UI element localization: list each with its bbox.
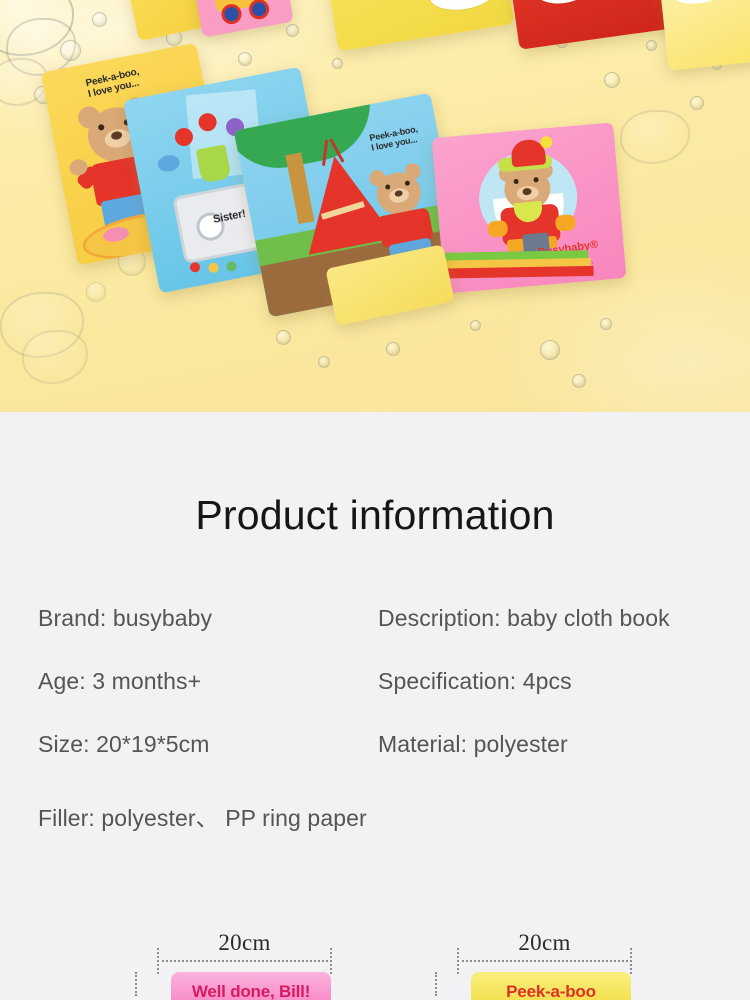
- dimension-tick-left: [157, 948, 159, 974]
- water-bubble: [332, 58, 343, 69]
- spec-age: Age: 3 months+: [38, 668, 201, 695]
- dimension-line: [157, 960, 332, 962]
- water-bubble: [86, 282, 106, 302]
- dimension-label: 20cm: [157, 930, 332, 956]
- water-bubble: [60, 40, 81, 61]
- book-caption: Well done, Bill!: [171, 982, 331, 1000]
- water-bubble: [540, 340, 560, 360]
- product-information-section: Product information Brand: busybaby Desc…: [0, 412, 750, 1000]
- water-bubble: [600, 318, 612, 330]
- water-bubble: [286, 24, 299, 37]
- water-bubble: [92, 12, 107, 27]
- spec-row: Age: 3 months+ Specification: 4pcs: [0, 668, 750, 731]
- dimension-callouts: 20cm Well done, Bill! 20cm Peek-a-boo: [0, 930, 750, 1000]
- water-bubble: [470, 320, 481, 331]
- dimension-vertical-tick: [435, 972, 437, 996]
- water-bubble: [276, 330, 291, 345]
- spec-material: Material: polyester: [378, 731, 568, 758]
- water-bubble: [646, 40, 657, 51]
- dimension-tick-left: [457, 948, 459, 974]
- dimension-label: 20cm: [457, 930, 632, 956]
- product-detail-page: Well done, Bill! Well done, Bill! Peek-a…: [0, 0, 750, 1000]
- spec-row: Size: 20*19*5cm Material: polyester: [0, 731, 750, 794]
- water-bubble: [572, 374, 586, 388]
- book-caption: Peek-a-boo: [471, 982, 631, 1000]
- speech-bubble: Well done, Bill!: [531, 0, 593, 7]
- water-bubble: [690, 96, 704, 110]
- spec-row: Filler: polyester、 PP ring paper: [0, 794, 750, 857]
- product-book-pink: Well done, Bill!: [171, 972, 331, 1000]
- spec-brand: Brand: busybaby: [38, 605, 212, 632]
- hero-product-photo: Well done, Bill! Well done, Bill! Peek-a…: [0, 0, 750, 412]
- book-caption-peekaboo: Peek-a-boo,I love you...: [369, 124, 421, 153]
- cloth-book-pink-cover: Busybaby® All Rights Reserved www.busyba…: [432, 122, 627, 293]
- page-title: Product information: [0, 492, 750, 539]
- cloth-book-yellow-right-edge: [660, 0, 750, 71]
- product-book-yellow: Peek-a-boo: [471, 972, 631, 1000]
- book-caption-peekaboo: Peek-a-boo,I love you...: [85, 66, 143, 100]
- water-bubble: [238, 52, 252, 66]
- water-bubble: [318, 356, 330, 368]
- spec-description: Description: baby cloth book: [378, 605, 670, 632]
- water-bubble: [386, 342, 400, 356]
- dimension-tick-right: [330, 948, 332, 974]
- dimension-tick-right: [630, 948, 632, 974]
- spec-filler: Filler: polyester、 PP ring paper: [38, 799, 367, 833]
- spec-row: Brand: busybaby Description: baby cloth …: [0, 605, 750, 668]
- speech-bubble: Well done, Bill!: [427, 0, 499, 14]
- specification-list: Brand: busybaby Description: baby cloth …: [0, 605, 750, 857]
- dimension-vertical-tick: [135, 972, 137, 996]
- dimension-line: [457, 960, 632, 962]
- water-bubble: [604, 72, 620, 88]
- spec-specification: Specification: 4pcs: [378, 668, 572, 695]
- spec-size: Size: 20*19*5cm: [38, 731, 210, 758]
